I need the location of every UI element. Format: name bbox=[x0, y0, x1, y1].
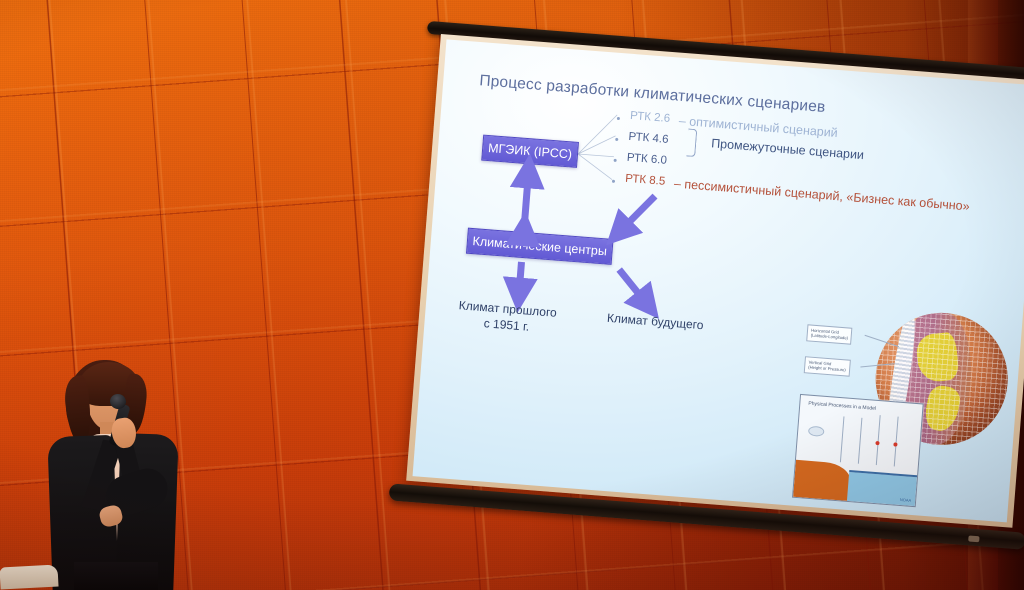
label-horizontal-grid-line2: (Latitude-Longitude) bbox=[810, 333, 848, 341]
label-vertical-grid: Vertical Grid (Height or Pressure) bbox=[804, 356, 851, 376]
physical-processes-inset: Physical Processes in a Model NOAA bbox=[792, 394, 924, 507]
inset-tick bbox=[840, 416, 845, 462]
label-vertical-grid-line2: (Height or Pressure) bbox=[808, 365, 846, 373]
inset-marker bbox=[893, 442, 897, 446]
inset-marker bbox=[875, 441, 879, 445]
label-horizontal-grid: Horizontal Grid (Latitude-Longitude) bbox=[806, 324, 853, 344]
cloud-icon bbox=[808, 426, 825, 437]
inset-tick bbox=[858, 418, 863, 464]
inset-title: Physical Processes in a Model bbox=[808, 401, 876, 412]
scene: Процесс разработки климатических сценари… bbox=[0, 0, 1024, 590]
climate-model-figure: Horizontal Grid (Latitude-Longitude) Ver… bbox=[792, 300, 1015, 514]
screen-pull-handle bbox=[968, 535, 979, 542]
foreground-object bbox=[0, 564, 59, 589]
caption-past-line2: с 1951 г. bbox=[483, 316, 530, 333]
inset-land bbox=[793, 460, 852, 501]
slide: Процесс разработки климатических сценари… bbox=[413, 39, 1024, 522]
skirt bbox=[74, 562, 158, 590]
inset-logo: NOAA bbox=[900, 497, 912, 503]
screen-frame: Процесс разработки климатических сценари… bbox=[406, 34, 1024, 528]
presenter bbox=[44, 356, 204, 590]
projection-screen: Процесс разработки климатических сценари… bbox=[396, 16, 1024, 583]
screen-surface: Процесс разработки климатических сценари… bbox=[413, 39, 1024, 522]
